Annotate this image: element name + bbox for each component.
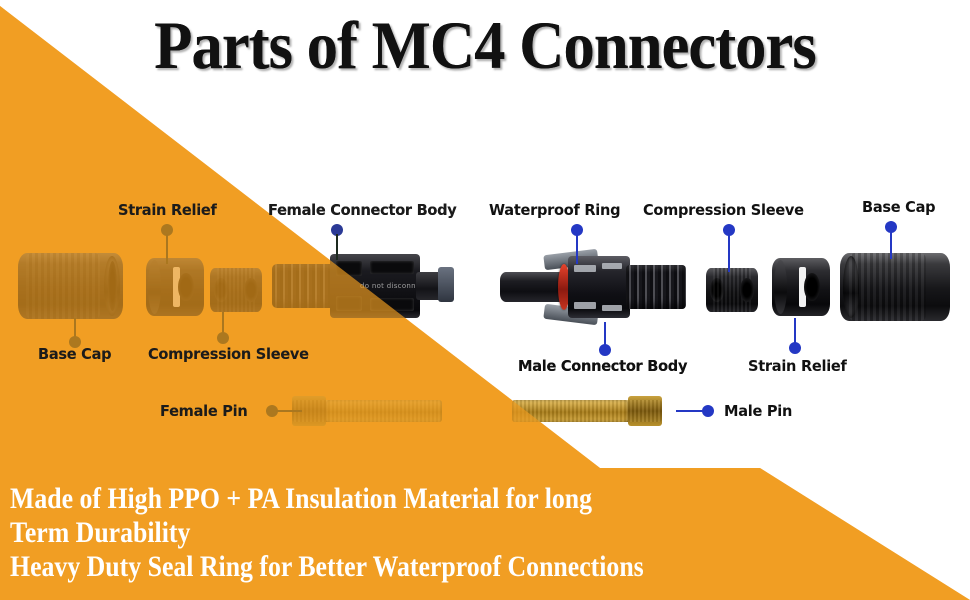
callout-dot-icon <box>217 332 229 344</box>
leader-female-base-cap <box>68 318 82 348</box>
leader-female-connector-body <box>330 224 344 260</box>
male-body-notch-bl <box>574 302 596 309</box>
callout-dot-icon <box>789 342 801 354</box>
strain-relief-lip <box>148 260 161 314</box>
female-body-window-tr <box>370 261 414 274</box>
label-male-base-cap: Base Cap <box>862 198 935 216</box>
female-body-window-tl <box>336 261 362 276</box>
part-male-base-cap <box>840 253 950 321</box>
male-body-notch-tr <box>602 263 622 269</box>
part-male-strain-relief <box>772 258 830 316</box>
male-body-threads <box>626 265 686 309</box>
tagline-line-1: Made of High PPO + PA Insulation Materia… <box>10 482 784 516</box>
leader-line-icon <box>166 234 168 264</box>
leader-male-strain-relief <box>788 318 802 358</box>
part-female-compression-sleeve <box>210 268 262 312</box>
leader-male-pin <box>676 403 716 417</box>
leader-waterproof-ring <box>570 224 584 264</box>
male-body-housing <box>568 256 630 318</box>
part-female-base-cap <box>18 253 123 319</box>
leader-line-icon <box>676 410 704 412</box>
male-strain-relief-bore <box>804 273 820 301</box>
female-pin-surface-texture <box>292 400 442 422</box>
label-female-base-cap-top: Base Cap <box>38 345 111 363</box>
label-female-pin-top: Female Pin <box>160 402 247 420</box>
base-cap-opening <box>108 261 117 311</box>
label-male-strain-relief: Strain Relief <box>748 357 847 375</box>
part-female-connector-body: do not disconnect <box>272 252 454 320</box>
male-body-notch-tl <box>574 265 596 272</box>
label-male-connector-body-top: Male Connector Body <box>518 357 687 375</box>
infographic-canvas: Parts of MC4 Connectors do not disconnec… <box>0 0 970 600</box>
leader-male-base-cap <box>884 221 898 259</box>
callout-dot-icon <box>599 344 611 356</box>
female-body-housing: do not disconnect <box>330 254 420 318</box>
part-male-pin <box>512 400 662 422</box>
male-pin-surface-texture <box>512 400 662 422</box>
leader-line-icon <box>576 234 578 264</box>
male-base-cap-grip-texture <box>849 253 926 321</box>
leader-line-icon <box>890 231 892 259</box>
female-body-threads <box>272 264 336 308</box>
label-waterproof-ring: Waterproof Ring <box>489 201 620 219</box>
leader-male-compression-sleeve <box>722 224 736 272</box>
label-female-compression-sleeve-top: Compression Sleeve <box>148 345 309 363</box>
leader-female-strain-relief <box>160 224 174 264</box>
leader-female-compression-sleeve <box>216 312 230 346</box>
strain-relief-bore <box>178 273 194 301</box>
male-body-notch-br <box>602 305 622 311</box>
base-cap-grip-texture <box>26 253 100 319</box>
tagline-line-3: Heavy Duty Seal Ring for Better Waterpro… <box>10 550 784 584</box>
part-female-pin <box>292 400 442 422</box>
label-male-compression-sleeve: Compression Sleeve <box>643 201 804 219</box>
female-body-window-br <box>370 298 414 311</box>
tagline-block: Made of High PPO + PA Insulation Materia… <box>10 482 784 584</box>
leader-line-icon <box>728 234 730 272</box>
leader-line-icon <box>276 410 302 412</box>
leader-line-icon <box>336 234 338 260</box>
label-female-connector-body-top: Female Connector Body <box>268 201 457 219</box>
male-compression-sleeve-bore-right <box>740 278 754 303</box>
page-title-overlay: Parts of MC4 Connectors <box>39 8 931 82</box>
compression-sleeve-bore-right <box>244 278 258 303</box>
part-male-compression-sleeve <box>706 268 758 312</box>
label-female-strain-relief-top: Strain Relief <box>118 201 217 219</box>
male-strain-relief-lip <box>774 260 787 314</box>
callout-dot-icon <box>702 405 714 417</box>
label-male-pin: Male Pin <box>724 402 792 420</box>
male-body-shaft <box>500 272 566 302</box>
part-female-strain-relief <box>146 258 204 316</box>
female-body-end-cap <box>438 267 454 302</box>
female-body-window-bl <box>336 296 362 311</box>
leader-female-pin <box>266 403 302 417</box>
part-male-connector-body <box>500 250 690 324</box>
tagline-line-2: Term Durability <box>10 516 784 550</box>
leader-male-connector-body <box>598 322 612 358</box>
